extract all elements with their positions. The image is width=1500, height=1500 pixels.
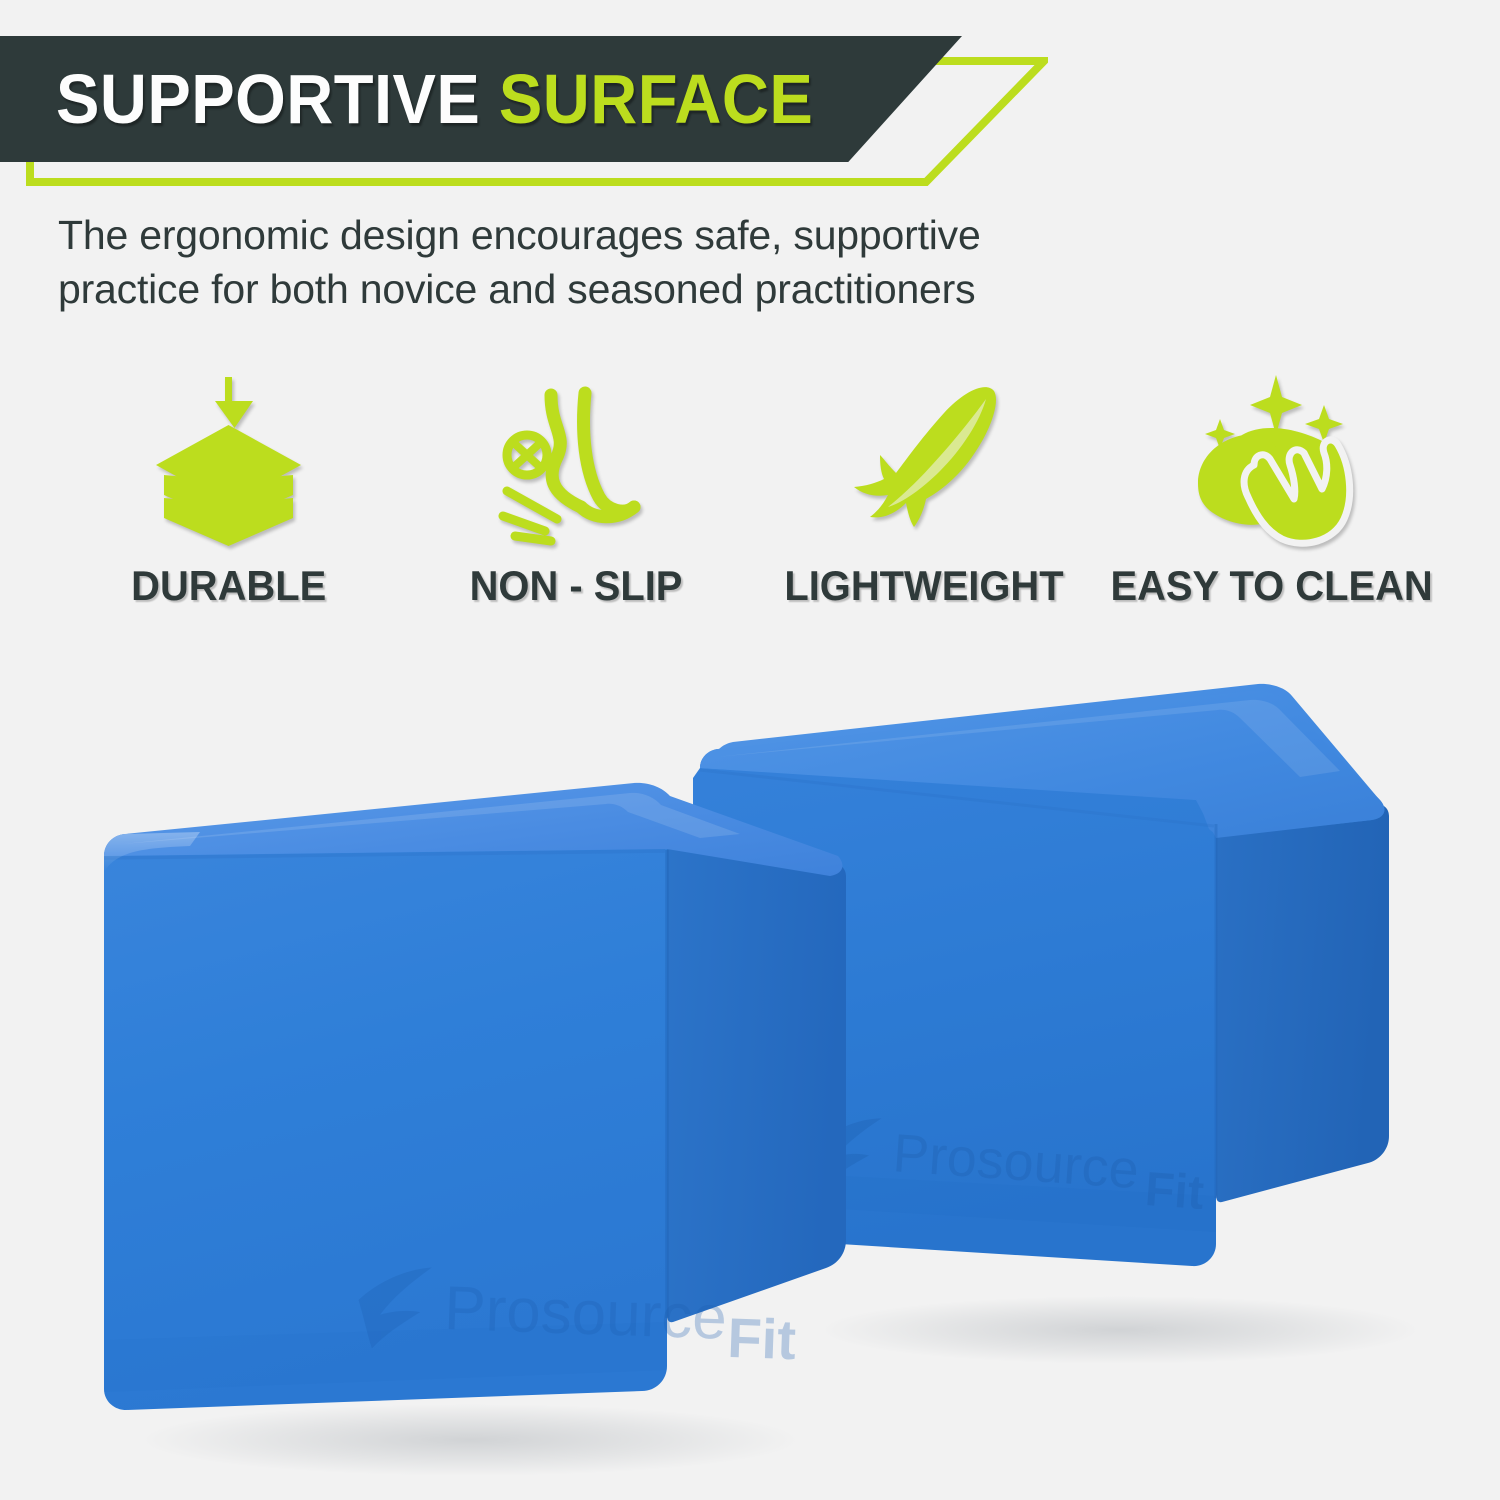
feature-item-durable: DURABLE [55, 355, 403, 610]
product-image: Prosource Fit [0, 640, 1500, 1500]
yoga-block-front: Prosource Fit [104, 783, 846, 1476]
subtitle: The ergonomic design encourages safe, su… [58, 208, 1258, 316]
feather-icon [836, 373, 1011, 548]
product-infographic: SUPPORTIVE SURFACE The ergonomic design … [0, 0, 1500, 1500]
subtitle-line-2: practice for both novice and seasoned pr… [58, 262, 1258, 316]
page-title-part-1: SUPPORTIVE [56, 59, 480, 139]
feature-label-lightweight: LIGHTWEIGHT [784, 562, 1063, 610]
feature-item-lightweight: LIGHTWEIGHT [750, 355, 1098, 610]
feature-list: DURABLE [55, 355, 1445, 610]
svg-text:Fit: Fit [726, 1306, 797, 1371]
page-title: SUPPORTIVE SURFACE [56, 36, 813, 162]
hand-wiping-sparkle-icon [1184, 373, 1359, 548]
feature-item-easy-to-clean: EASY TO CLEAN [1098, 355, 1446, 610]
feature-item-non-slip: NON - SLIP [403, 355, 751, 610]
feature-label-non-slip: NON - SLIP [470, 562, 683, 610]
stacked-layers-compression-icon [141, 373, 316, 548]
subtitle-line-1: The ergonomic design encourages safe, su… [58, 208, 1258, 262]
feature-label-easy-to-clean: EASY TO CLEAN [1110, 562, 1432, 610]
svg-text:Prosource: Prosource [443, 1274, 728, 1353]
feature-label-durable: DURABLE [131, 562, 326, 610]
foot-no-slip-icon [489, 373, 664, 548]
header-banner: SUPPORTIVE SURFACE [0, 0, 1500, 200]
page-title-part-2: SURFACE [499, 59, 813, 139]
